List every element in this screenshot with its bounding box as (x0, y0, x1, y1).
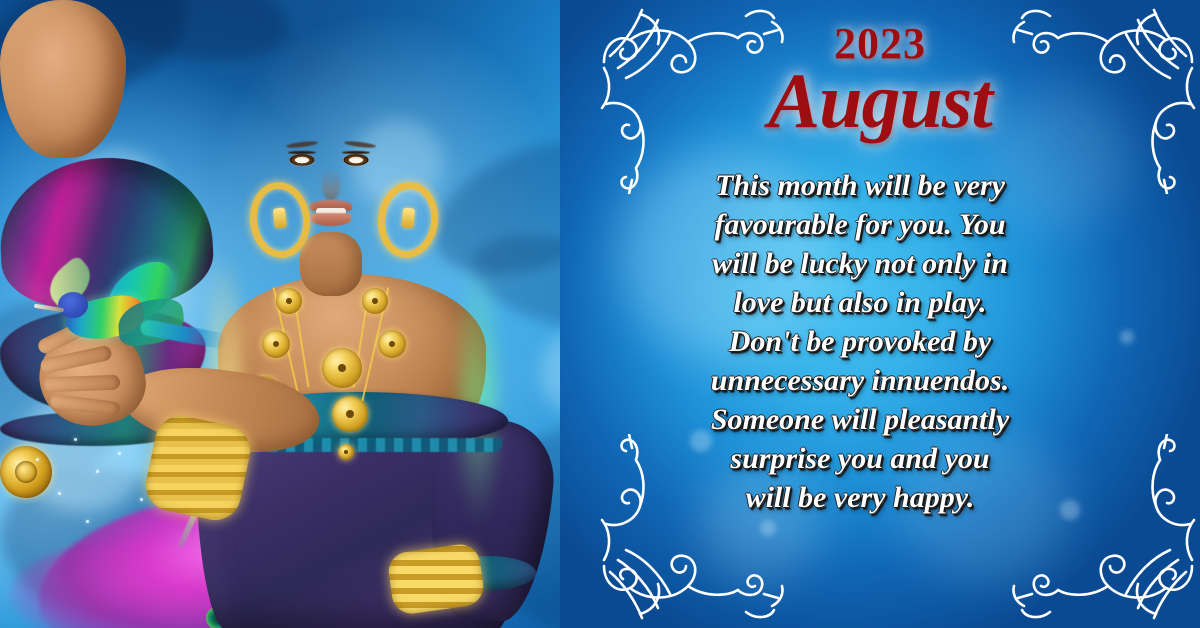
sparkle (36, 458, 39, 461)
sparkle (96, 470, 99, 473)
panel-bokeh-dot (1120, 330, 1134, 344)
forecast-line: surprise you and you (640, 439, 1080, 478)
hummingbird-head (58, 292, 88, 318)
panel-bokeh-dot (760, 520, 776, 536)
forecast-line: This month will be very (640, 166, 1080, 205)
forecast-line: will be lucky not only in (640, 244, 1080, 283)
necklace-disc (322, 348, 362, 388)
necklace-disc (362, 288, 388, 314)
necklace-disc (378, 330, 406, 358)
forecast-text: This month will be very favourable for y… (640, 166, 1080, 517)
forecast-line: love but also in play. (640, 283, 1080, 322)
necklace-pendant (338, 444, 354, 460)
necklace-disc (332, 396, 368, 432)
sparkle (118, 452, 121, 455)
forecast-line: unnecessary innuendos. (640, 361, 1080, 400)
forecast-line: Someone will pleasantly (640, 400, 1080, 439)
eye (343, 154, 369, 166)
month-title: August (560, 56, 1200, 146)
eyebrow (286, 140, 318, 149)
turban-brooch-icon (0, 443, 55, 500)
horoscope-banner: 2023 August This month will be very favo… (0, 0, 1200, 628)
neck (300, 232, 362, 296)
sparkle (86, 520, 89, 523)
eyelash (288, 151, 316, 154)
lower-lip (311, 213, 351, 226)
eyebrow (344, 140, 376, 149)
nose (322, 168, 340, 200)
eye (289, 154, 315, 166)
sparkle (58, 492, 61, 495)
necklace-disc (276, 288, 302, 314)
face (0, 0, 126, 158)
hoop-earring (374, 179, 442, 261)
eyelash (342, 151, 370, 154)
forecast-line: will be very happy. (640, 478, 1080, 517)
forecast-line: Don't be provoked by (640, 322, 1080, 361)
sparkle (74, 438, 77, 441)
fortune-teller-figure (0, 0, 620, 628)
artwork-panel (0, 0, 620, 628)
finger (44, 375, 120, 393)
sparkle (140, 498, 143, 501)
rim-light-right (460, 256, 496, 526)
forecast-line: favourable for you. You (640, 205, 1080, 244)
necklace-disc (262, 330, 290, 358)
turban (0, 153, 216, 314)
